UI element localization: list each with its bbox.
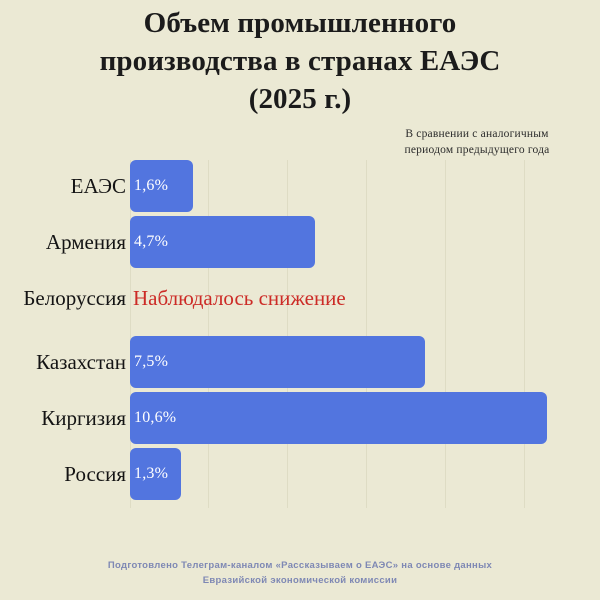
- category-label-russia: Россия: [0, 462, 128, 487]
- bar-value-kyrgyzstan: 10,6%: [130, 409, 176, 427]
- title-line-2: производства в странах ЕАЭС: [0, 42, 600, 80]
- category-label-kyrgyzstan: Киргизия: [0, 406, 128, 431]
- chart-row-belarus: Белоруссия Наблюдалось снижение: [0, 272, 600, 324]
- chart-plot-area: ЕАЭС 1,6% Армения 4,7% Белоруссия Наблюд…: [0, 160, 600, 508]
- title-line-3: (2025 г.): [0, 80, 600, 118]
- chart-row-eaeu: ЕАЭС 1,6%: [0, 160, 600, 212]
- subtitle-line-1: В сравнении с аналогичным: [362, 126, 592, 142]
- category-label-kazakhstan: Казахстан: [0, 350, 128, 375]
- chart-row-russia: Россия 1,3%: [0, 448, 600, 500]
- chart-title: Объем промышленного производства в стран…: [0, 4, 600, 118]
- bar-armenia: 4,7%: [130, 216, 315, 268]
- chart-row-armenia: Армения 4,7%: [0, 216, 600, 268]
- category-label-eaeu: ЕАЭС: [0, 174, 128, 199]
- category-label-belarus: Белоруссия: [0, 286, 128, 311]
- bar-value-eaeu: 1,6%: [130, 177, 168, 195]
- bar-eaeu: 1,6%: [130, 160, 193, 212]
- bar-kazakhstan: 7,5%: [130, 336, 425, 388]
- bar-value-kazakhstan: 7,5%: [130, 353, 168, 371]
- bar-russia: 1,3%: [130, 448, 181, 500]
- footer-credit: Подготовлено Телеграм-каналом «Рассказыв…: [0, 558, 600, 588]
- subtitle-line-2: периодом предыдущего года: [362, 142, 592, 158]
- chart-subtitle-note: В сравнении с аналогичным периодом преды…: [362, 126, 592, 158]
- title-line-1: Объем промышленного: [0, 4, 600, 42]
- footer-line-2: Евразийской экономической комиссии: [0, 573, 600, 588]
- infographic-canvas: Объем промышленного производства в стран…: [0, 0, 600, 600]
- bar-value-russia: 1,3%: [130, 465, 168, 483]
- footer-line-1: Подготовлено Телеграм-каналом «Рассказыв…: [0, 558, 600, 573]
- bar-kyrgyzstan: 10,6%: [130, 392, 547, 444]
- chart-row-kyrgyzstan: Киргизия 10,6%: [0, 392, 600, 444]
- bar-value-armenia: 4,7%: [130, 233, 168, 251]
- category-label-armenia: Армения: [0, 230, 128, 255]
- decline-annotation-belarus: Наблюдалось снижение: [133, 286, 346, 311]
- chart-row-kazakhstan: Казахстан 7,5%: [0, 336, 600, 388]
- chart-rows: ЕАЭС 1,6% Армения 4,7% Белоруссия Наблюд…: [0, 160, 600, 508]
